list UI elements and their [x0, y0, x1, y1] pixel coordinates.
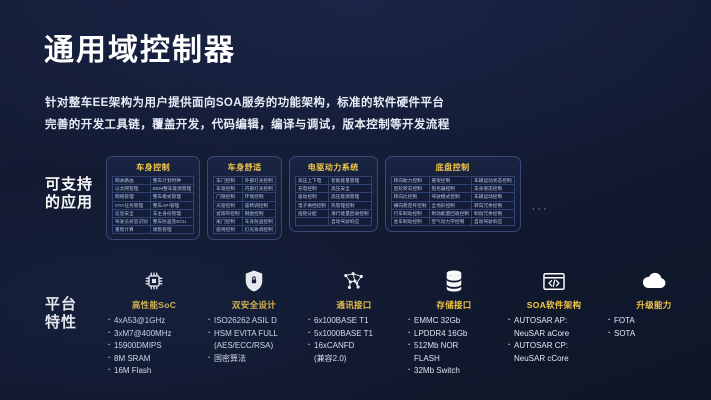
- table-cell: 后轮转向控制: [391, 185, 429, 193]
- table-row: 门锁控制环境控制: [214, 193, 276, 201]
- list-item: FLASH: [414, 353, 504, 366]
- list-item: 15900DMIPS: [114, 340, 204, 353]
- application-table: 高压上下电智能能量管理充电控制高压安全驱动控制高压能源管理电子换挡控制热管理控制…: [295, 176, 372, 226]
- table-row: 转向助力控制悬架控制车辆运动状态控制: [391, 177, 514, 185]
- applications-row: 车身控制网关路由整车计划时钟以太网管理EEM整车能源管理网络管理整车模式管理OT…: [106, 156, 549, 240]
- platform-feature-title: 存储接口: [404, 299, 504, 311]
- table-cell: 自动驾驶响应: [472, 218, 515, 226]
- table-cell: 充电控制: [295, 185, 328, 193]
- list-item: NeuSAR cCore: [514, 353, 604, 366]
- table-row: 高压上下电智能能量管理: [295, 177, 371, 185]
- list-item: NeuSAR aCore: [514, 328, 604, 341]
- table-cell: 门锁控制: [214, 193, 242, 201]
- table-cell: 高压安全: [329, 185, 372, 193]
- application-box: 车身舒适车门控制外部灯光控制车窗控制内部灯光控制门锁控制环境控制天窗控制座椅调控…: [207, 156, 282, 240]
- application-box-title: 底盘控制: [391, 161, 515, 176]
- table-cell: 空气动力学控制: [429, 218, 472, 226]
- table-row: 驾驶员状态识别整车防盗及ECU: [113, 218, 194, 226]
- application-box-title: 电驱动力系统: [295, 161, 372, 176]
- table-row: 电子换挡控制热管理控制: [295, 201, 371, 209]
- platform-feature-list: AUTOSAR AP:NeuSAR aCoreAUTOSAR CP:NeuSAR…: [504, 315, 604, 365]
- shield-lock-icon: [204, 266, 304, 296]
- code-window-icon: [504, 266, 604, 296]
- platform-feature-column: SOA软件架构AUTOSAR AP:NeuSAR aCoreAUTOSAR CP…: [504, 266, 604, 365]
- table-cell: 遮阳帘控制: [214, 209, 242, 217]
- list-item: 国密算法: [214, 353, 304, 366]
- chip-icon: [104, 266, 204, 296]
- table-cell: 天窗控制: [214, 201, 242, 209]
- more-applications-indicator: ···: [532, 203, 549, 215]
- list-item: SOTA: [614, 328, 704, 341]
- list-item: 8M SRAM: [114, 353, 204, 366]
- table-cell: 高压上下电: [295, 177, 328, 185]
- list-item: AUTOSAR AP:: [514, 315, 604, 328]
- table-cell: 驾驶员状态识别: [113, 218, 151, 226]
- table-row: 网络管理整车模式管理: [113, 193, 194, 201]
- table-row: 驱动控制高压能源管理: [295, 193, 371, 201]
- table-cell: 尾门控制: [214, 218, 242, 226]
- list-item: HSM EVITA FULL: [214, 328, 304, 341]
- page-subtitle: 针对整车EE架构为用户提供面向SOA服务的功能架构，标准的软件硬件平台 完善的开…: [45, 92, 665, 136]
- table-cell: 热管理控制: [329, 201, 372, 209]
- table-cell: OTA任务管理: [113, 201, 151, 209]
- applications-label-line-1: 可支持: [45, 176, 93, 194]
- table-cell: 转向助力控制: [391, 177, 429, 185]
- table-cell: 驾驶模式控制: [429, 193, 472, 201]
- slide-root: 通用域控制器 针对整车EE架构为用户提供面向SOA服务的功能架构，标准的软件硬件…: [0, 0, 711, 400]
- table-cell: 车主身份管理: [150, 209, 193, 217]
- table-cell: 外部灯光控制: [242, 177, 275, 185]
- platform-feature-column: 通讯接口6x100BASE T15x1000BASE T116xCANFD(兼容…: [304, 266, 404, 365]
- table-cell: 网关路由: [113, 177, 151, 185]
- table-cell: 网络管理: [113, 193, 151, 201]
- applications-section-label: 可支持 的应用: [45, 176, 93, 212]
- table-cell: 驱动控制: [295, 193, 328, 201]
- table-cell: 信息安全: [113, 209, 151, 217]
- table-row: 后轮转向控制阻尼器控制车身姿态控制: [391, 185, 514, 193]
- list-item: 16M Flash: [114, 365, 204, 378]
- table-cell: 滑行能量回收控制: [329, 209, 372, 217]
- table-row: 横向稳定杆控制全地形控制转向冗余控制: [391, 201, 514, 209]
- table-row: 网关路由整车计划时钟: [113, 177, 194, 185]
- table-row: 以太网管理EEM整车能源管理: [113, 185, 194, 193]
- platform-feature-list: 6x100BASE T15x1000BASE T116xCANFD(兼容2.0): [304, 315, 404, 365]
- subtitle-line-1: 针对整车EE架构为用户提供面向SOA服务的功能架构，标准的软件硬件平台: [45, 97, 444, 109]
- platform-features-row: 高性能SoC4xA53@1GHz3xM7@400MHz15900DMIPS8M …: [104, 266, 704, 378]
- table-cell: 高压能源管理: [329, 193, 372, 201]
- applications-label-line-2: 的应用: [45, 194, 93, 212]
- list-item: (兼容2.0): [314, 353, 404, 366]
- database-icon: [404, 266, 504, 296]
- platform-label-line-2: 特性: [45, 314, 77, 332]
- application-box: 车身控制网关路由整车计划时钟以太网管理EEM整车能源管理网络管理整车模式管理OT…: [106, 156, 200, 240]
- table-cell: 转向比控制: [391, 193, 429, 201]
- platform-feature-column: 高性能SoC4xA53@1GHz3xM7@400MHz15900DMIPS8M …: [104, 266, 204, 378]
- table-cell: [295, 218, 328, 226]
- table-cell: 整车模式管理: [150, 193, 193, 201]
- table-cell: 全地形控制: [429, 201, 472, 209]
- table-cell: 车身防盗控制: [242, 218, 275, 226]
- table-cell: 车辆运动控制: [472, 193, 515, 201]
- table-cell: 自动驾驶响应: [329, 218, 372, 226]
- application-box-title: 车身控制: [112, 161, 194, 176]
- table-cell: 以太网管理: [113, 185, 151, 193]
- table-cell: 重稳计算: [113, 226, 151, 234]
- application-box: 底盘控制转向助力控制悬架控制车辆运动状态控制后轮转向控制阻尼器控制车身姿态控制转…: [385, 156, 521, 232]
- table-cell: 车门控制: [214, 177, 242, 185]
- table-cell: 整车API管理: [150, 201, 193, 209]
- list-item: LPDDR4 16Gb: [414, 328, 504, 341]
- application-box: 电驱动力系统高压上下电智能能量管理充电控制高压安全驱动控制高压能源管理电子换挡控…: [289, 156, 378, 232]
- table-cell: 车身姿态控制: [472, 185, 515, 193]
- table-cell: 车辆运动状态控制: [472, 177, 515, 185]
- table-cell: 悬架控制: [429, 177, 472, 185]
- list-item: ISO26262 ASIL D: [214, 315, 304, 328]
- list-item: 6x100BASE T1: [314, 315, 404, 328]
- table-row: 行车制动控制制动能量回收控制制动冗余控制: [391, 209, 514, 217]
- platform-feature-column: 存储接口EMMC 32GbLPDDR4 16Gb512Mb NORFLASH32…: [404, 266, 504, 378]
- table-cell: 转向冗余控制: [472, 201, 515, 209]
- platform-feature-title: 通讯接口: [304, 299, 404, 311]
- table-row: 天窗控制座椅调控制: [214, 201, 276, 209]
- table-cell: 销售管理: [150, 226, 193, 234]
- table-cell: 座椅调控制: [242, 201, 275, 209]
- table-cell: 内部灯光控制: [242, 185, 275, 193]
- page-title: 通用域控制器: [44, 36, 236, 66]
- list-item: 5x1000BASE T1: [314, 328, 404, 341]
- table-row: OTA任务管理整车API管理: [113, 201, 194, 209]
- network-nodes-icon: [304, 266, 404, 296]
- table-cell: 横向稳定杆控制: [391, 201, 429, 209]
- platform-feature-title: 高性能SoC: [104, 299, 204, 311]
- list-item: FOTA: [614, 315, 704, 328]
- table-cell: EEM整车能源管理: [150, 185, 193, 193]
- table-row: 转向比控制驾驶模式控制车辆运动控制: [391, 193, 514, 201]
- table-cell: 行车制动控制: [391, 209, 429, 217]
- platform-feature-column: 双安全设计ISO26262 ASIL DHSM EVITA FULL(AES/E…: [204, 266, 304, 365]
- list-item: 3xM7@400MHz: [114, 328, 204, 341]
- table-cell: 制动冗余控制: [472, 209, 515, 217]
- table-cell: 阻尼器控制: [429, 185, 472, 193]
- platform-feature-title: 双安全设计: [204, 299, 304, 311]
- table-row: 遮阳帘控制钢胎控制: [214, 209, 276, 217]
- table-cell: 环境控制: [242, 193, 275, 201]
- table-cell: 座椅控制: [214, 226, 242, 234]
- application-table: 转向助力控制悬架控制车辆运动状态控制后轮转向控制阻尼器控制车身姿态控制转向比控制…: [391, 176, 515, 226]
- list-item: EMMC 32Gb: [414, 315, 504, 328]
- table-cell: 整车防盗及ECU: [150, 218, 193, 226]
- list-item: (AES/ECC/RSA): [214, 340, 304, 353]
- table-cell: 制动能量回收控制: [429, 209, 472, 217]
- table-row: 扭矩分配滑行能量回收控制: [295, 209, 371, 217]
- table-cell: 电子换挡控制: [295, 201, 328, 209]
- table-cell: 灯光协调控制: [242, 226, 275, 234]
- platform-section-label: 平台 特性: [45, 296, 77, 332]
- table-row: 充电控制高压安全: [295, 185, 371, 193]
- table-cell: 车窗控制: [214, 185, 242, 193]
- list-item: 4xA53@1GHz: [114, 315, 204, 328]
- platform-feature-list: FOTASOTA: [604, 315, 704, 340]
- list-item: 32Mb Switch: [414, 365, 504, 378]
- table-row: 尾门控制车身防盗控制: [214, 218, 276, 226]
- platform-label-line-1: 平台: [45, 296, 77, 314]
- table-cell: 驻车制动控制: [391, 218, 429, 226]
- table-row: 驻车制动控制空气动力学控制自动驾驶响应: [391, 218, 514, 226]
- application-box-title: 车身舒适: [213, 161, 276, 176]
- platform-feature-column: 升级能力FOTASOTA: [604, 266, 704, 340]
- table-row: 重稳计算销售管理: [113, 226, 194, 234]
- application-table: 车门控制外部灯光控制车窗控制内部灯光控制门锁控制环境控制天窗控制座椅调控制遮阳帘…: [213, 176, 276, 234]
- table-cell: 智能能量管理: [329, 177, 372, 185]
- table-row: 信息安全车主身份管理: [113, 209, 194, 217]
- subtitle-line-2: 完善的开发工具链，覆盖开发，代码编辑，编译与调试，版本控制等开发流程: [45, 114, 665, 136]
- table-row: 车窗控制内部灯光控制: [214, 185, 276, 193]
- platform-feature-title: 升级能力: [604, 299, 704, 311]
- table-row: 自动驾驶响应: [295, 218, 371, 226]
- list-item: AUTOSAR CP:: [514, 340, 604, 353]
- platform-feature-list: EMMC 32GbLPDDR4 16Gb512Mb NORFLASH32Mb S…: [404, 315, 504, 378]
- platform-feature-list: 4xA53@1GHz3xM7@400MHz15900DMIPS8M SRAM16…: [104, 315, 204, 378]
- list-item: 512Mb NOR: [414, 340, 504, 353]
- platform-feature-list: ISO26262 ASIL DHSM EVITA FULL(AES/ECC/RS…: [204, 315, 304, 365]
- list-item: 16xCANFD: [314, 340, 404, 353]
- table-cell: 扭矩分配: [295, 209, 328, 217]
- application-table: 网关路由整车计划时钟以太网管理EEM整车能源管理网络管理整车模式管理OTA任务管…: [112, 176, 194, 234]
- table-cell: 整车计划时钟: [150, 177, 193, 185]
- platform-feature-title: SOA软件架构: [504, 299, 604, 311]
- cloud-icon: [604, 266, 704, 296]
- table-row: 座椅控制灯光协调控制: [214, 226, 276, 234]
- table-cell: 钢胎控制: [242, 209, 275, 217]
- table-row: 车门控制外部灯光控制: [214, 177, 276, 185]
